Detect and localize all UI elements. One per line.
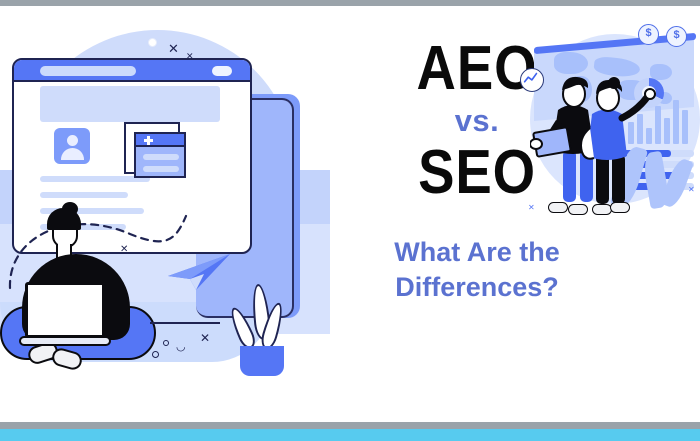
address-bar[interactable] [40, 66, 136, 76]
window-controls[interactable] [212, 66, 232, 76]
bottom-chrome-bar [0, 422, 700, 429]
laptop-screen [25, 282, 105, 338]
popup-titlebar [136, 134, 184, 147]
two-people-figures [530, 58, 660, 218]
dot-icon [152, 351, 159, 358]
popup-text-line [143, 154, 179, 160]
browser-titlebar [14, 60, 250, 82]
right-illustration: $ $ [510, 6, 700, 236]
person-hair [47, 208, 81, 230]
avatar [54, 128, 90, 164]
subtitle-line-1: What Are the [352, 235, 602, 270]
laptop-base [19, 336, 111, 346]
sparkle-icon: ✕ [528, 204, 535, 212]
subtitle-line-2: Differences? [352, 270, 602, 305]
dollar-coin-icon: $ [638, 24, 659, 45]
hero-block [40, 86, 220, 122]
dollar-coin-icon: $ [666, 26, 687, 47]
person-shoe [610, 202, 630, 213]
potted-plant [231, 284, 291, 376]
bar [682, 110, 688, 144]
sparkle-icon: ✕ [120, 245, 128, 255]
dot-icon [148, 38, 157, 47]
popup-text-line [143, 166, 179, 172]
avatar-body-icon [61, 148, 84, 160]
sparkle-icon: ✕ [168, 42, 179, 55]
sparkle-icon: ✕ [200, 332, 210, 344]
arc-icon: ◡ [176, 342, 186, 353]
bar [673, 100, 679, 144]
horizon-line [150, 322, 220, 324]
bar [664, 118, 670, 144]
sparkle-icon: ✕ [688, 186, 695, 194]
person-shoe [548, 202, 568, 213]
person-shoe [568, 204, 588, 215]
sparkle-icon: ✕ [186, 52, 194, 61]
popup-card [134, 132, 186, 178]
person-shoe [592, 204, 612, 215]
plant-pot [240, 346, 284, 376]
dot-icon [163, 340, 169, 346]
left-illustration: ✕ ✕ ✕ ✕ ◡ [0, 6, 330, 406]
avatar-head-icon [67, 135, 78, 146]
plus-icon [144, 139, 153, 142]
banner-canvas: ✕ ✕ ✕ ✕ ◡ AEO vs. SEO What Are the Diffe… [0, 0, 700, 441]
bottom-accent-bar [0, 429, 700, 441]
